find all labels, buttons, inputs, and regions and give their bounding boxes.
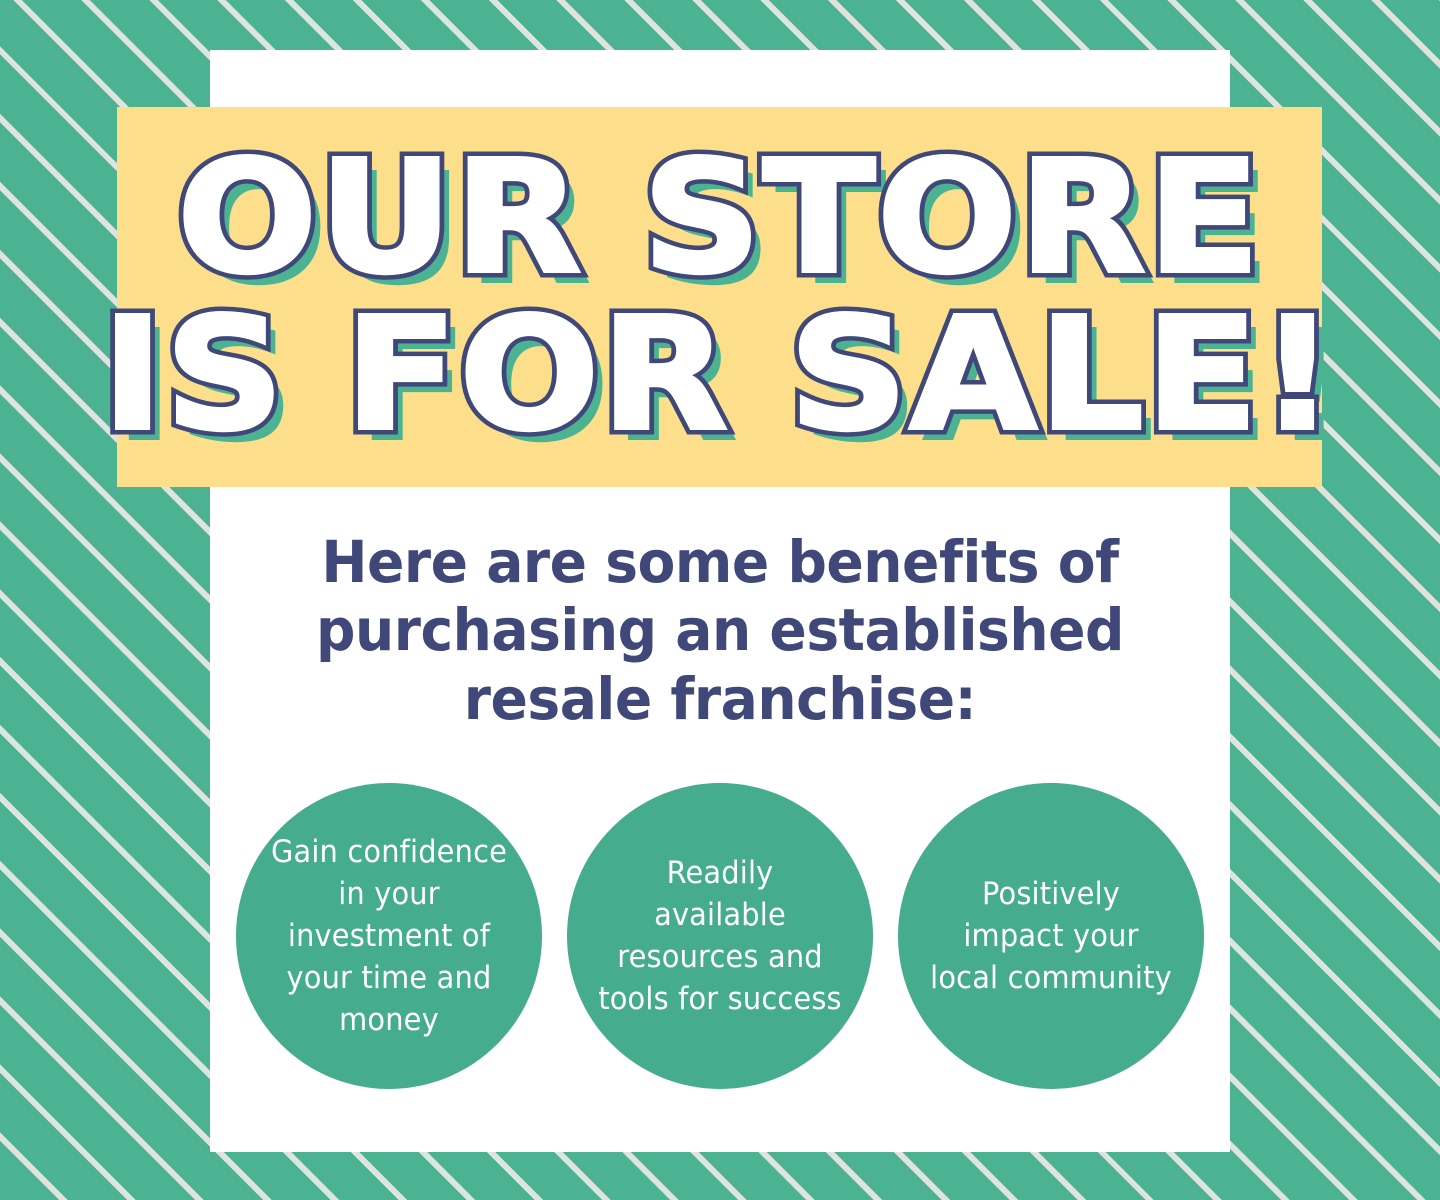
- benefit-circle-2-label: Readily available resources and tools fo…: [598, 852, 842, 1021]
- benefit-circle-1: Gain confidence in your investment of yo…: [236, 783, 542, 1089]
- subheading-line-1: Here are some benefits of: [264, 528, 1176, 596]
- benefit-circle-2: Readily available resources and tools fo…: [567, 783, 873, 1089]
- benefit-circle-1-label: Gain confidence in your investment of yo…: [267, 831, 511, 1042]
- subheading-line-2: purchasing an established: [264, 596, 1176, 664]
- poster-canvas: OUR STORE OUR STORE OUR STORE IS FOR SAL…: [0, 0, 1440, 1200]
- benefits-row: Gain confidence in your investment of yo…: [236, 783, 1204, 1095]
- subheading-line-3: resale franchise:: [264, 665, 1176, 733]
- benefit-circle-3: Positively impact your local community: [898, 783, 1204, 1089]
- subheading-block: Here are some benefits of purchasing an …: [240, 528, 1200, 733]
- yellow-headline-banner: [117, 107, 1322, 487]
- benefit-circle-3-label: Positively impact your local community: [929, 873, 1173, 999]
